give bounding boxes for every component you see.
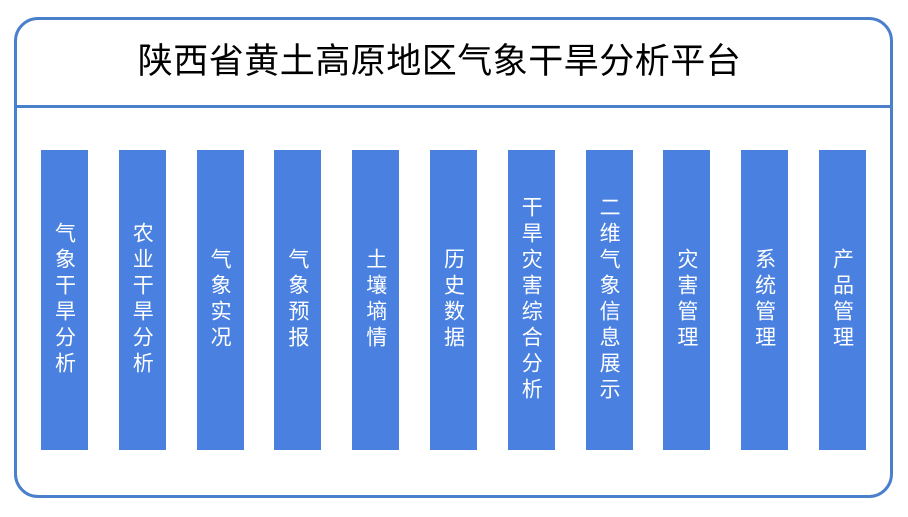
- nav-tile-label: 产品管理: [829, 248, 855, 352]
- navigation-bar: 气象干旱分析 农业干旱分析 气象实况 气象预报 土壤墒情 历史数据 干旱灾害综合…: [17, 108, 890, 495]
- nav-tile-product-management[interactable]: 产品管理: [819, 150, 866, 450]
- nav-tile-label: 二维气象信息展示: [596, 196, 622, 404]
- page-title: 陕西省黄土高原地区气象干旱分析平台: [138, 45, 742, 80]
- nav-tile-two-dimensional-weather-info-display[interactable]: 二维气象信息展示: [586, 150, 633, 450]
- nav-tile-disaster-management[interactable]: 灾害管理: [663, 150, 710, 450]
- nav-tile-label: 农业干旱分析: [129, 222, 155, 378]
- nav-tile-weather-forecast[interactable]: 气象预报: [274, 150, 321, 450]
- nav-tile-label: 历史数据: [440, 248, 466, 352]
- nav-tile-label: 气象实况: [207, 248, 233, 352]
- nav-tile-label: 系统管理: [752, 248, 778, 352]
- nav-tile-label: 气象干旱分析: [52, 222, 78, 378]
- nav-tile-label: 干旱灾害综合分析: [518, 196, 544, 404]
- nav-tile-agricultural-drought-analysis[interactable]: 农业干旱分析: [119, 150, 166, 450]
- nav-tile-meteorological-drought-analysis[interactable]: 气象干旱分析: [41, 150, 88, 450]
- navigation-tile-rail: 气象干旱分析 农业干旱分析 气象实况 气象预报 土壤墒情 历史数据 干旱灾害综合…: [41, 150, 866, 450]
- nav-tile-weather-observation[interactable]: 气象实况: [197, 150, 244, 450]
- nav-tile-soil-moisture[interactable]: 土壤墒情: [352, 150, 399, 450]
- nav-tile-historical-data[interactable]: 历史数据: [430, 150, 477, 450]
- nav-tile-drought-disaster-comprehensive-analysis[interactable]: 干旱灾害综合分析: [508, 150, 555, 450]
- nav-tile-label: 灾害管理: [674, 248, 700, 352]
- header-band: 陕西省黄土高原地区气象干旱分析平台: [17, 20, 890, 108]
- nav-tile-system-management[interactable]: 系统管理: [741, 150, 788, 450]
- nav-tile-label: 气象预报: [285, 248, 311, 352]
- application-frame: 陕西省黄土高原地区气象干旱分析平台 气象干旱分析 农业干旱分析 气象实况 气象预…: [14, 17, 893, 498]
- nav-tile-label: 土壤墒情: [363, 248, 389, 352]
